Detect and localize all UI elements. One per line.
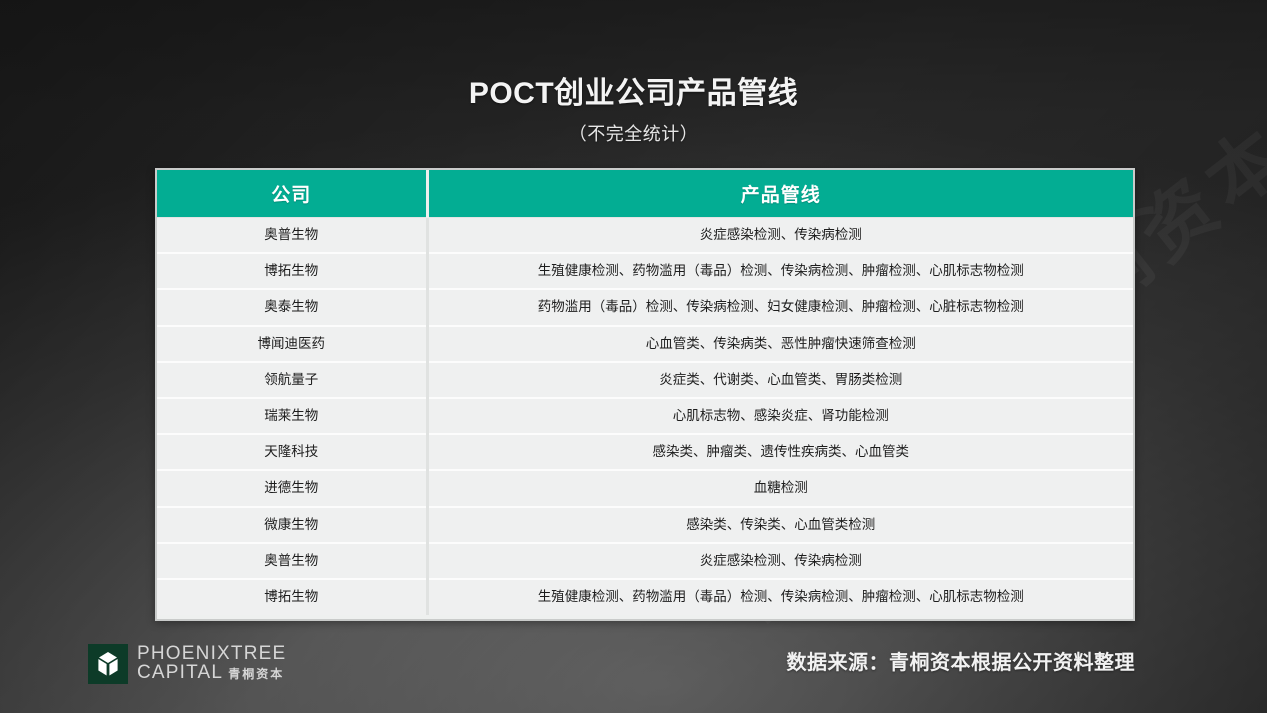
cell-pipeline: 炎症感染检测、传染病检测 [427, 217, 1133, 253]
table-row: 奥普生物炎症感染检测、传染病检测 [157, 543, 1133, 579]
table-row: 博闻迪医药心血管类、传染病类、恶性肿瘤快速筛查检测 [157, 326, 1133, 362]
cell-company: 奥普生物 [157, 543, 427, 579]
logo-wordmark: PHOENIXTREE CAPITAL 青桐资本 [137, 645, 286, 682]
cell-company: 微康生物 [157, 507, 427, 543]
logo-chinese-name: 青桐资本 [228, 669, 284, 681]
table-row: 天隆科技感染类、肿瘤类、遗传性疾病类、心血管类 [157, 434, 1133, 470]
table-row: 进德生物血糖检测 [157, 470, 1133, 506]
phoenixtree-capital-logo: PHOENIXTREE CAPITAL 青桐资本 [88, 644, 286, 684]
cell-pipeline: 生殖健康检测、药物滥用（毒品）检测、传染病检测、肿瘤检测、心肌标志物检测 [427, 579, 1133, 615]
cell-pipeline: 感染类、传染类、心血管类检测 [427, 507, 1133, 543]
logo-line-capital: CAPITAL [137, 664, 223, 683]
cell-pipeline: 生殖健康检测、药物滥用（毒品）检测、传染病检测、肿瘤检测、心肌标志物检测 [427, 253, 1133, 289]
cell-pipeline: 炎症类、代谢类、心血管类、胃肠类检测 [427, 362, 1133, 398]
table-body: 奥普生物炎症感染检测、传染病检测博拓生物生殖健康检测、药物滥用（毒品）检测、传染… [157, 217, 1133, 615]
cell-pipeline: 心血管类、传染病类、恶性肿瘤快速筛查检测 [427, 326, 1133, 362]
cube-logo-icon [88, 644, 128, 684]
cell-company: 奥泰生物 [157, 289, 427, 325]
cell-company: 奥普生物 [157, 217, 427, 253]
table-row: 奥泰生物药物滥用（毒品）检测、传染病检测、妇女健康检测、肿瘤检测、心脏标志物检测 [157, 289, 1133, 325]
cell-company: 博闻迪医药 [157, 326, 427, 362]
cell-pipeline: 心肌标志物、感染炎症、肾功能检测 [427, 398, 1133, 434]
cell-pipeline: 血糖检测 [427, 470, 1133, 506]
cell-pipeline: 药物滥用（毒品）检测、传染病检测、妇女健康检测、肿瘤检测、心脏标志物检测 [427, 289, 1133, 325]
table-row: 博拓生物生殖健康检测、药物滥用（毒品）检测、传染病检测、肿瘤检测、心肌标志物检测 [157, 253, 1133, 289]
page-title: POCT创业公司产品管线 [0, 68, 1267, 112]
pipeline-table: 公司 产品管线 奥普生物炎症感染检测、传染病检测博拓生物生殖健康检测、药物滥用（… [157, 170, 1133, 615]
cell-pipeline: 炎症感染检测、传染病检测 [427, 543, 1133, 579]
pipeline-table-container: 公司 产品管线 奥普生物炎症感染检测、传染病检测博拓生物生殖健康检测、药物滥用（… [155, 168, 1135, 621]
cell-company: 进德生物 [157, 470, 427, 506]
cell-company: 领航量子 [157, 362, 427, 398]
table-row: 博拓生物生殖健康检测、药物滥用（毒品）检测、传染病检测、肿瘤检测、心肌标志物检测 [157, 579, 1133, 615]
cell-pipeline: 感染类、肿瘤类、遗传性疾病类、心血管类 [427, 434, 1133, 470]
cell-company: 天隆科技 [157, 434, 427, 470]
table-header-row: 公司 产品管线 [157, 170, 1133, 217]
cell-company: 博拓生物 [157, 253, 427, 289]
table-header: 公司 产品管线 [157, 170, 1133, 217]
data-source-note: 数据来源：青桐资本根据公开资料整理 [787, 646, 1136, 675]
cell-company: 瑞莱生物 [157, 398, 427, 434]
table-row: 微康生物感染类、传染类、心血管类检测 [157, 507, 1133, 543]
column-header-pipeline: 产品管线 [427, 170, 1133, 217]
column-header-company: 公司 [157, 170, 427, 217]
table-row: 领航量子炎症类、代谢类、心血管类、胃肠类检测 [157, 362, 1133, 398]
logo-line-capital-row: CAPITAL 青桐资本 [137, 664, 286, 683]
table-row: 瑞莱生物心肌标志物、感染炎症、肾功能检测 [157, 398, 1133, 434]
cell-company: 博拓生物 [157, 579, 427, 615]
table-row: 奥普生物炎症感染检测、传染病检测 [157, 217, 1133, 253]
page-subtitle: （不完全统计） [0, 120, 1267, 146]
